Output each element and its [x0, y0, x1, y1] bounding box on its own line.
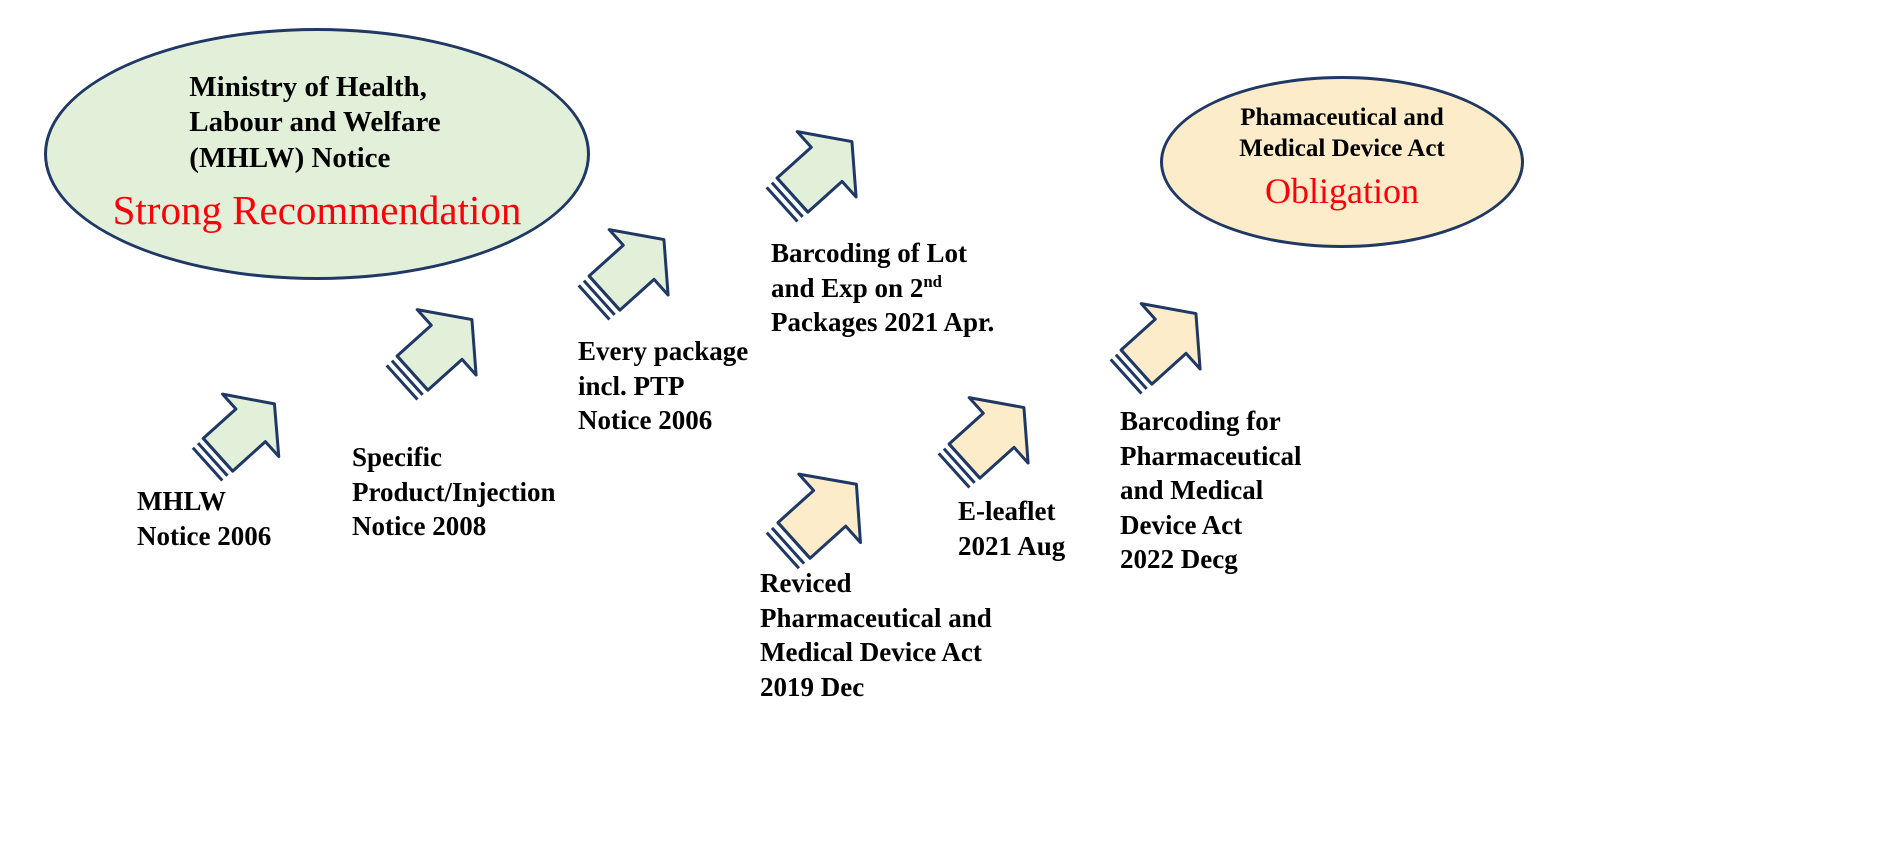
label-specific-product-injection-2008: Specific Product/Injection Notice 2008: [352, 440, 556, 544]
label-e-leaflet-2021: E-leaflet 2021 Aug: [958, 494, 1065, 563]
label-barcoding-pmd-act-2022: Barcoding for Pharmaceutical and Medical…: [1120, 404, 1301, 577]
arrow-specific-product-injection-2008: [380, 296, 495, 406]
label-barcoding-line-3: Packages 2021 Apr.: [771, 305, 994, 340]
label-every-package-ptp-2006: Every package incl. PTP Notice 2006: [578, 334, 748, 438]
arrow-mhlw-notice-2006: [186, 382, 296, 487]
ordinal-suffix: nd: [923, 272, 942, 291]
ellipse-obligation: Phamaceutical and Medical Device Act Obl…: [1160, 76, 1524, 248]
label-barcoding-lot-exp-2021: Barcoding of Lot and Exp on 2nd Packages…: [771, 236, 994, 340]
arrow-every-package-ptp-2006: [572, 216, 687, 326]
arrow-reviced-pmd-act-2019: [760, 460, 880, 575]
ellipse-left-title: Ministry of Health, Labour and Welfare (…: [189, 70, 440, 176]
ellipse-right-status: Obligation: [1265, 170, 1419, 212]
ellipse-right-title: Phamaceutical and Medical Device Act: [1239, 103, 1444, 164]
ellipse-left-status: Strong Recommendation: [113, 186, 522, 234]
label-barcoding-line-2: and Exp on 2nd: [771, 271, 994, 306]
arrow-e-leaflet-2021: [932, 384, 1047, 494]
arrow-barcoding-pmd-act-2022: [1104, 290, 1219, 400]
diagram-canvas: Ministry of Health, Labour and Welfare (…: [0, 0, 1897, 843]
arrow-barcoding-lot-exp-2021: [760, 118, 875, 228]
label-mhlw-notice-2006: MHLW Notice 2006: [137, 484, 271, 553]
label-barcoding-line-1: Barcoding of Lot: [771, 236, 994, 271]
ellipse-strong-recommendation: Ministry of Health, Labour and Welfare (…: [44, 28, 590, 280]
label-reviced-pmd-act-2019: Reviced Pharmaceutical and Medical Devic…: [760, 566, 992, 704]
label-barcoding-line-2-text: and Exp on 2: [771, 273, 923, 303]
